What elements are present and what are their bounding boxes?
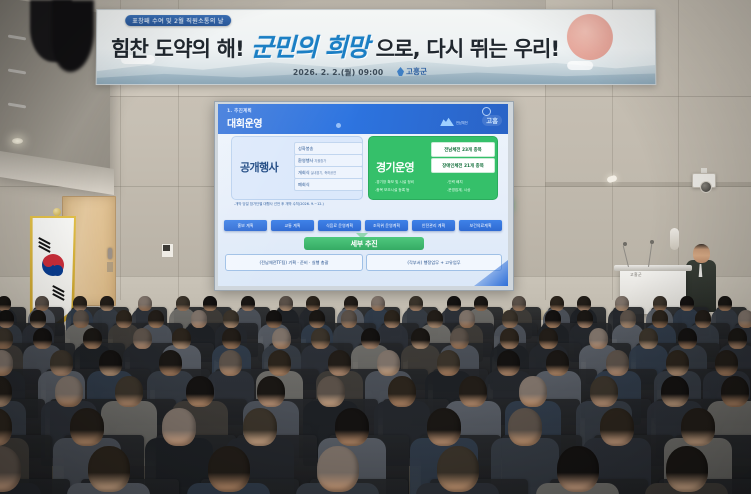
- audience-head: [70, 408, 104, 446]
- audience-head: [427, 310, 443, 328]
- slide-footer-box-tf-team: (전남체전TF팀) 기획 · 준비 · 실행 총괄: [225, 254, 363, 271]
- audience-head: [99, 350, 122, 376]
- audience-head: [678, 328, 697, 349]
- slide-emblem-label: 전남체전: [456, 120, 468, 125]
- audience-head: [600, 408, 634, 446]
- audience-head: [620, 310, 636, 328]
- audience-head: [328, 350, 351, 376]
- audience-head: [437, 350, 460, 376]
- audience-head: [35, 296, 49, 311]
- slide-emblem: 전남체전: [438, 116, 468, 128]
- audience-head: [50, 350, 73, 376]
- banner-headline: 힘찬 도약의 해! 군민의 희망 으로, 다시 뛰는 우리!: [111, 28, 645, 64]
- audience-head: [208, 446, 250, 492]
- audience-head: [715, 350, 738, 376]
- audience-head: [203, 296, 217, 311]
- audience-head: [512, 296, 526, 311]
- banner-text-highlight: 군민의 희망: [251, 28, 369, 64]
- slide-county-tag: 고흥: [482, 115, 502, 126]
- audience-head: [681, 408, 715, 446]
- audience-head: [653, 296, 667, 311]
- screenshot-root: 표창패 수여 및 2월 직원소통의 날 힘찬 도약의 해! 군민의 희망 으로,…: [0, 0, 751, 494]
- audience-head: [138, 296, 152, 311]
- panel-title: 경기운영: [376, 159, 414, 175]
- panel-note: -경기장 확보 및 시설 정비: [375, 180, 414, 185]
- audience-head: [172, 328, 191, 349]
- audience-head: [508, 408, 542, 446]
- audience-head: [371, 296, 385, 311]
- audience-head: [257, 376, 285, 407]
- door-plate: [107, 262, 113, 272]
- wall-seam: [0, 96, 751, 97]
- slide-panel-competition-ops: 경기운영 전남체전 23개 종목 장애인체전 21개 종목 -경기장 확보 및 …: [368, 136, 498, 200]
- audience-head: [115, 376, 143, 407]
- plan-button-committee[interactable]: 조직위 운영계획: [365, 220, 408, 231]
- banner-text-part3: 으로, 다시 뛰는 우리!: [376, 33, 560, 63]
- panel-note: -운영집계, 시상: [447, 188, 470, 193]
- gochang-logo-icon: [397, 67, 404, 76]
- mountain-emblem-icon: [438, 117, 454, 126]
- taeguk-red-icon: [43, 256, 54, 267]
- plan-button-safety[interactable]: 안전관리 계획: [412, 220, 455, 231]
- audience-head: [223, 310, 239, 328]
- audience-head: [55, 376, 83, 407]
- flag-finial-icon: [53, 208, 61, 216]
- audience-head: [437, 446, 479, 492]
- decor-dot-icon: [336, 123, 341, 128]
- audience-head: [721, 376, 749, 407]
- microphone-icon: [650, 240, 654, 244]
- audience-head: [680, 296, 694, 311]
- audience-head: [409, 296, 423, 311]
- audience-head: [577, 310, 593, 328]
- audience-head: [695, 310, 711, 328]
- audience-head: [639, 328, 658, 349]
- audience-head: [88, 446, 130, 492]
- plan-button-medical[interactable]: 보건의료계획: [459, 220, 502, 231]
- slide-title: 대회운영: [227, 115, 262, 130]
- slide-header: 1. 추진계획 대회운영 전남체전 고흥: [218, 104, 508, 134]
- audience-head: [83, 328, 102, 349]
- audience-head: [133, 328, 152, 349]
- microphone-icon: [623, 242, 627, 246]
- audience-head: [73, 310, 89, 328]
- plan-button-catering[interactable]: 식음료 운영계획: [318, 220, 361, 231]
- audience-head: [176, 296, 190, 311]
- audience-head: [738, 310, 751, 328]
- audience-head: [219, 350, 242, 376]
- audience-head: [384, 310, 400, 328]
- banner-text-part1: 힘찬 도약의 해!: [111, 33, 244, 63]
- audience-head: [243, 408, 277, 446]
- audience-head: [474, 296, 488, 311]
- wall-joint: [678, 0, 679, 300]
- audience-head: [0, 296, 11, 311]
- audience-head: [162, 408, 196, 446]
- audience-head: [341, 310, 357, 328]
- banner-logo-text: 고흥군: [406, 66, 427, 77]
- panel-note: -인력 배치: [447, 180, 463, 185]
- panel-row-label: 성화봉송: [298, 146, 313, 152]
- slide-panel-public-events: 공개행사 성화봉송 환영행사 자율참가 개회식 실내경기, 축하공연 폐회식: [231, 136, 363, 200]
- panel-row-label: 개회식: [298, 170, 310, 176]
- plan-button-traffic[interactable]: 교통 계획: [271, 220, 314, 231]
- audience-head: [335, 408, 369, 446]
- audience-head: [728, 328, 747, 349]
- audience-head: [427, 408, 461, 446]
- slide-section-number: 1. 추진계획: [227, 108, 252, 114]
- audience-head: [377, 350, 400, 376]
- audience-head: [317, 376, 345, 407]
- audience-head: [309, 310, 325, 328]
- event-banner: 표창패 수여 및 2월 직원소통의 날 힘찬 도약의 해! 군민의 희망 으로,…: [96, 9, 657, 85]
- audience-head: [718, 296, 732, 311]
- slide-footer-box-departments: (각부서) 행정업무 + 고유업무: [366, 254, 502, 271]
- audience-head: [411, 328, 430, 349]
- banner-badge: 표창패 수여 및 2월 직원소통의 날: [125, 15, 231, 26]
- panel-title: 공개행사: [240, 159, 278, 175]
- audience-head: [73, 296, 87, 311]
- audience-head: [459, 310, 475, 328]
- audience-head: [30, 310, 46, 328]
- audience-head: [550, 296, 564, 311]
- audience-head: [590, 376, 618, 407]
- audience-head: [33, 328, 52, 349]
- panel-box: 장애인체전 21개 종목: [431, 158, 495, 173]
- audience-head: [497, 350, 520, 376]
- audience-head: [116, 310, 132, 328]
- podium-label: 고흥군: [630, 272, 642, 278]
- camera-lens-icon: [700, 181, 712, 193]
- audience-head: [266, 310, 282, 328]
- audience-head: [344, 296, 358, 311]
- door-handle-icon[interactable]: [108, 248, 112, 259]
- ceiling-light: [12, 138, 23, 144]
- audience-head: [268, 350, 291, 376]
- taeguk-blue-icon: [52, 265, 63, 276]
- audience-head: [545, 310, 561, 328]
- slide-plan-buttons: 홍보 계획 교통 계획 식음료 운영계획 조직위 운영계획 안전관리 계획 보건…: [224, 220, 502, 231]
- audience-head: [222, 328, 241, 349]
- audience-head: [148, 310, 164, 328]
- audience-head: [459, 376, 487, 407]
- audience-head: [186, 376, 214, 407]
- wall-speaker-icon: [670, 228, 679, 250]
- panel-note: -종목 보조시설 등록 등: [375, 188, 409, 193]
- audience-head: [666, 350, 689, 376]
- audience-head: [0, 310, 14, 328]
- audience-head: [557, 446, 599, 492]
- audience-head: [191, 310, 207, 328]
- panel-row-label: 폐회식: [298, 182, 310, 188]
- audience-head: [539, 328, 558, 349]
- audience-head: [100, 296, 114, 311]
- audience-head: [241, 296, 255, 311]
- panel-row-label: 환영행사: [298, 158, 313, 164]
- audience-head: [546, 350, 569, 376]
- audience-head: [388, 376, 416, 407]
- audience-head: [606, 350, 629, 376]
- audience-head: [447, 296, 461, 311]
- audience-head: [589, 328, 608, 349]
- banner-logo: 고흥군: [397, 66, 427, 77]
- audience-head: [500, 328, 519, 349]
- plan-button-promotion[interactable]: 홍보 계획: [224, 220, 267, 231]
- audience-head: [615, 296, 629, 311]
- panel-row-note: 자율참가: [314, 158, 326, 163]
- audience-head: [577, 296, 591, 311]
- audience-head: [652, 310, 668, 328]
- presentation-slide: 1. 추진계획 대회운영 전남체전 고흥 공개행사 성화봉송 환영행사 자율참가…: [218, 104, 508, 286]
- audience-head: [272, 328, 291, 349]
- audience-head: [519, 376, 547, 407]
- speaker-head: [693, 244, 710, 263]
- panel-row-note: 실내경기, 축하공연: [311, 170, 337, 175]
- podium-top: [614, 265, 692, 271]
- audience-head: [317, 446, 359, 492]
- audience-head: [279, 296, 293, 311]
- slide-green-bar: 세부 추진: [304, 237, 424, 250]
- audience-head: [450, 328, 469, 349]
- audience-head: [306, 296, 320, 311]
- audience-head: [661, 376, 689, 407]
- audience-head: [159, 350, 182, 376]
- audience-head: [502, 310, 518, 328]
- panel-row: 폐회식: [294, 178, 363, 191]
- switch-panel-icon: [163, 245, 170, 251]
- banner-date: 2026. 2. 2.(월) 09:00: [293, 67, 383, 78]
- panel-footnote: -개막 당일 참가단별 대행사 선언 후 개막 수칙(2026. 9.~12.): [234, 201, 324, 206]
- panel-box: 전남체전 23개 종목: [431, 142, 495, 157]
- audience-head: [666, 446, 708, 492]
- audience-head: [361, 328, 380, 349]
- audience-head: [311, 328, 330, 349]
